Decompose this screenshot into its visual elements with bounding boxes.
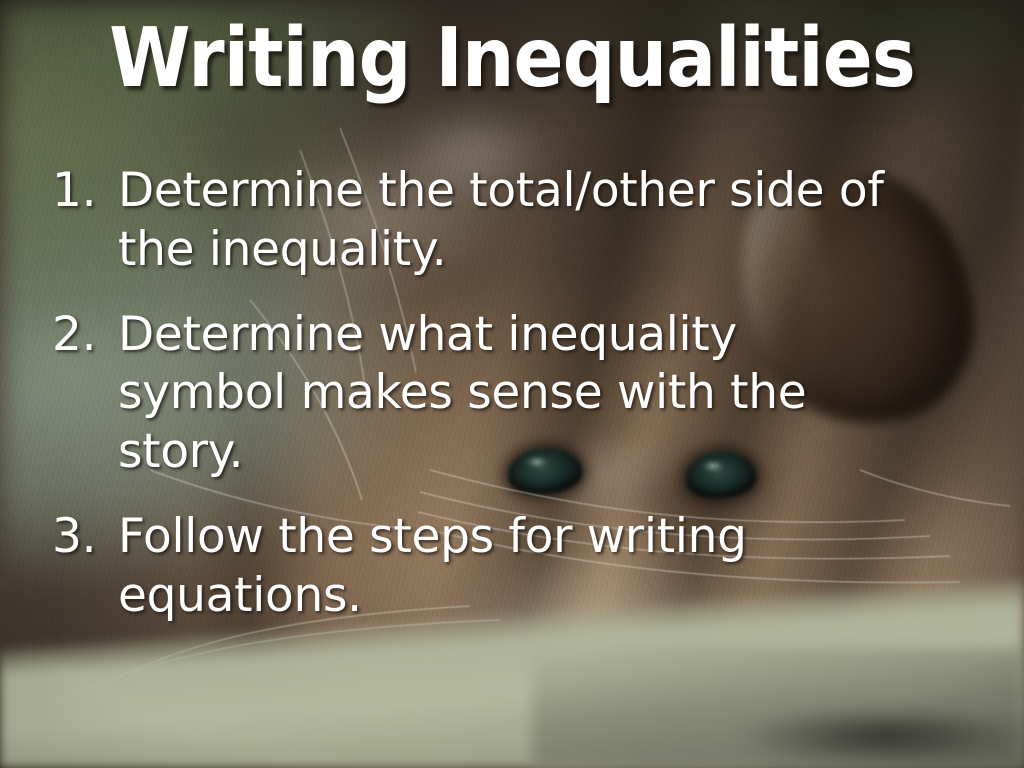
list-item-number: 3. (52, 508, 118, 567)
presentation-slide: Writing Inequalities 1. Determine the to… (0, 0, 1024, 768)
slide-title: Writing Inequalities (51, 18, 973, 100)
list-item: 1. Determine the total/other side of the… (52, 162, 904, 280)
list-item-text: Follow the steps for writing equations. (118, 508, 798, 626)
list-item-number: 1. (52, 162, 118, 221)
list-item-text: Determine what inequality symbol makes s… (118, 306, 818, 482)
list-item: 2. Determine what inequality symbol make… (52, 306, 904, 482)
slide-content: Writing Inequalities 1. Determine the to… (0, 0, 1024, 768)
list-item: 3. Follow the steps for writing equation… (52, 508, 904, 626)
list-item-number: 2. (52, 306, 118, 365)
numbered-step-list: 1. Determine the total/other side of the… (52, 162, 904, 625)
list-item-text: Determine the total/other side of the in… (118, 162, 904, 280)
